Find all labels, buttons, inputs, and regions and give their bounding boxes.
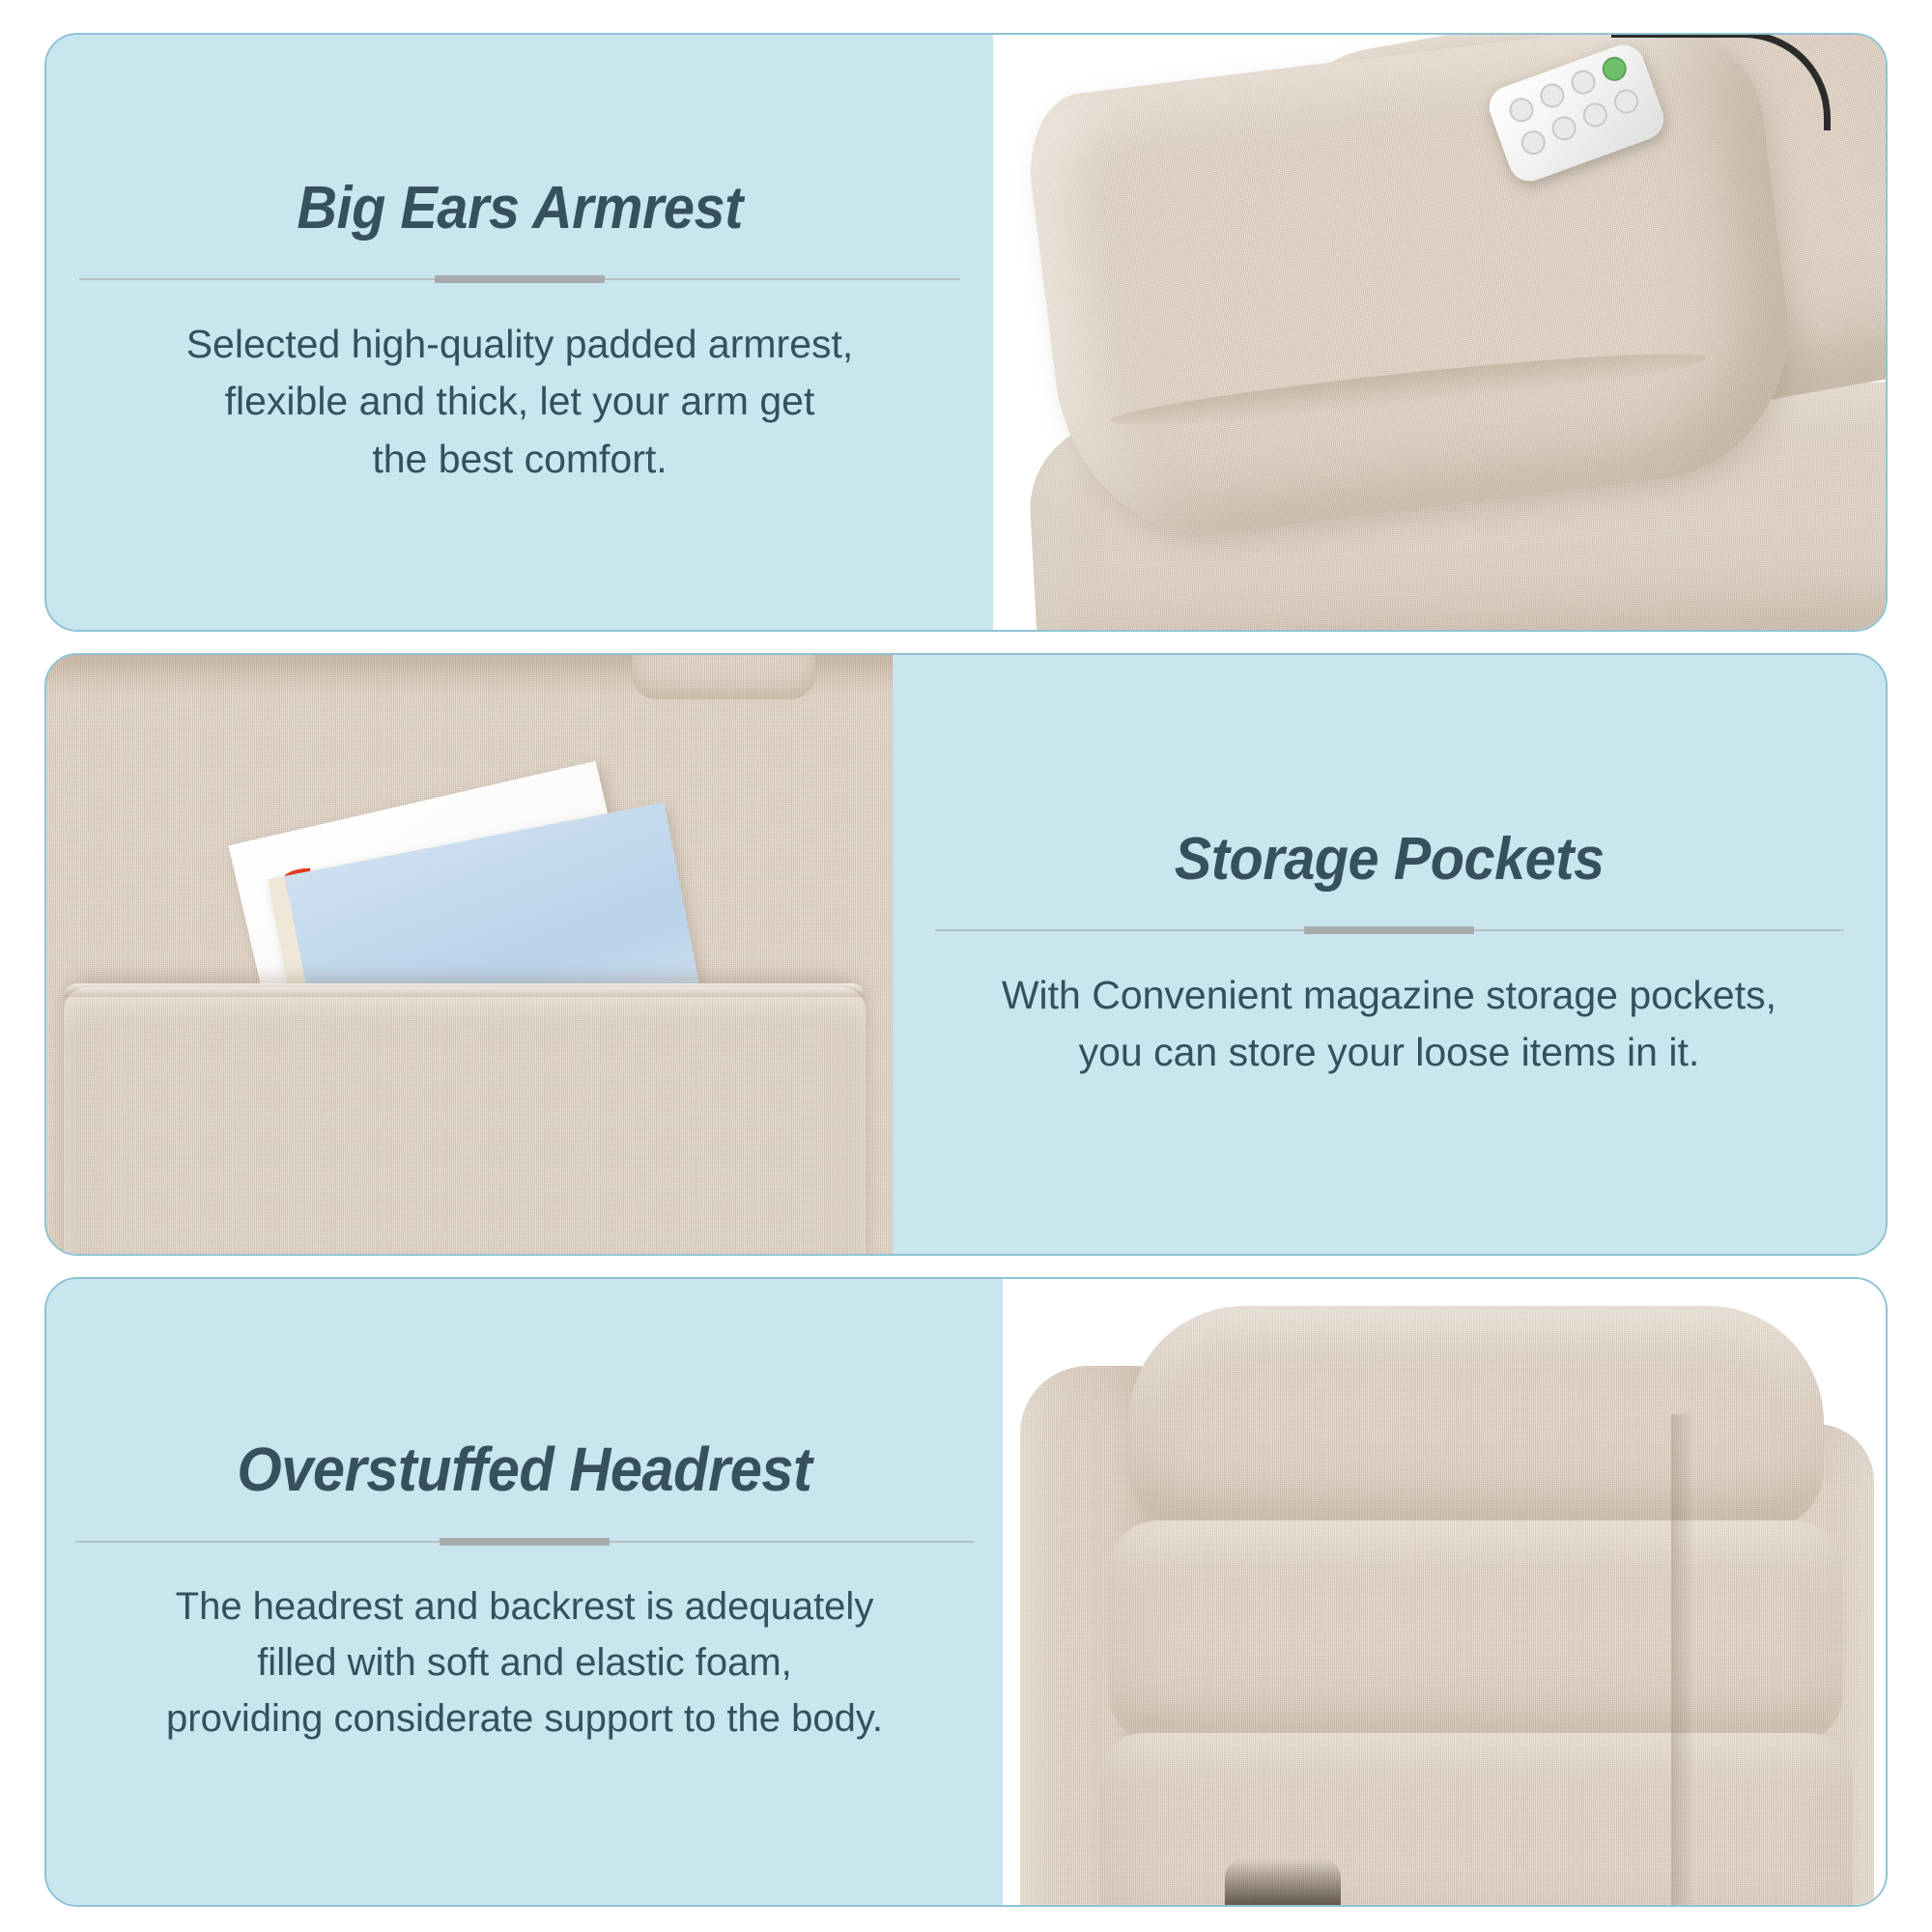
feature-panel-big-ears-armrest: Big Ears Armrest Selected high-quality p…: [44, 33, 1888, 632]
armrest-pillow-photo: [993, 35, 1886, 630]
headrest-backrest-photo: [1003, 1279, 1886, 1905]
title-divider: [79, 274, 960, 283]
description-line: filled with soft and elastic foam,: [166, 1634, 883, 1690]
description-line: you can store your loose items in it.: [1002, 1024, 1776, 1081]
feature-description: Selected high-quality padded armrest, fl…: [186, 316, 854, 488]
feature-description: The headrest and backrest is adequately …: [166, 1578, 883, 1747]
description-line: flexible and thick, let your arm get: [186, 373, 854, 430]
title-divider: [75, 1537, 974, 1546]
feature-title: Overstuffed Headrest: [238, 1437, 812, 1502]
title-divider: [935, 925, 1843, 934]
feature-text-block: Overstuffed Headrest The headrest and ba…: [46, 1279, 1003, 1905]
remote-button-icon: [1518, 128, 1548, 158]
description-line: providing considerate support to the bod…: [166, 1690, 883, 1747]
feature-panel-storage-pockets: S /\/SENCHUAN 08 Storage Pockets Wit: [44, 653, 1888, 1256]
feature-text-block: Storage Pockets With Convenient magazine…: [893, 655, 1886, 1254]
description-line: With Convenient magazine storage pockets…: [1002, 967, 1776, 1024]
remote-button-icon: [1506, 95, 1537, 126]
remote-button-icon: [1568, 67, 1599, 98]
remote-button-icon: [1611, 86, 1642, 117]
remote-button-icon: [1537, 80, 1568, 111]
remote-button-icon: [1548, 113, 1579, 144]
backrest-lower-cushion: [1099, 1733, 1853, 1905]
chair-base-shadow: [1225, 1859, 1341, 1905]
feature-title: Big Ears Armrest: [297, 177, 742, 240]
feature-description: With Convenient magazine storage pockets…: [1002, 967, 1776, 1082]
remote-button-icon: [1579, 99, 1610, 130]
cushion-gap-shadow: [1671, 1414, 1696, 1905]
divider-center-nub: [435, 275, 605, 283]
feature-panel-overstuffed-headrest: Overstuffed Headrest The headrest and ba…: [44, 1277, 1888, 1907]
feature-title: Storage Pockets: [1174, 828, 1604, 891]
storage-pocket-photo: S /\/SENCHUAN 08: [46, 655, 893, 1254]
description-line: the best comfort.: [186, 431, 854, 488]
infographic-page: Big Ears Armrest Selected high-quality p…: [0, 0, 1932, 1932]
remote-power-button-icon: [1599, 53, 1630, 84]
headrest-cushion: [1128, 1306, 1824, 1528]
description-line: The headrest and backrest is adequately: [166, 1578, 883, 1634]
backrest-middle-cushion: [1109, 1520, 1843, 1743]
description-line: Selected high-quality padded armrest,: [186, 316, 854, 373]
divider-center-nub: [1304, 926, 1474, 934]
pocket-hem: [64, 983, 866, 997]
feature-text-block: Big Ears Armrest Selected high-quality p…: [46, 35, 993, 630]
magazine-storage-pocket: [64, 983, 866, 1254]
fabric-tab: [632, 655, 815, 699]
divider-center-nub: [440, 1538, 610, 1546]
